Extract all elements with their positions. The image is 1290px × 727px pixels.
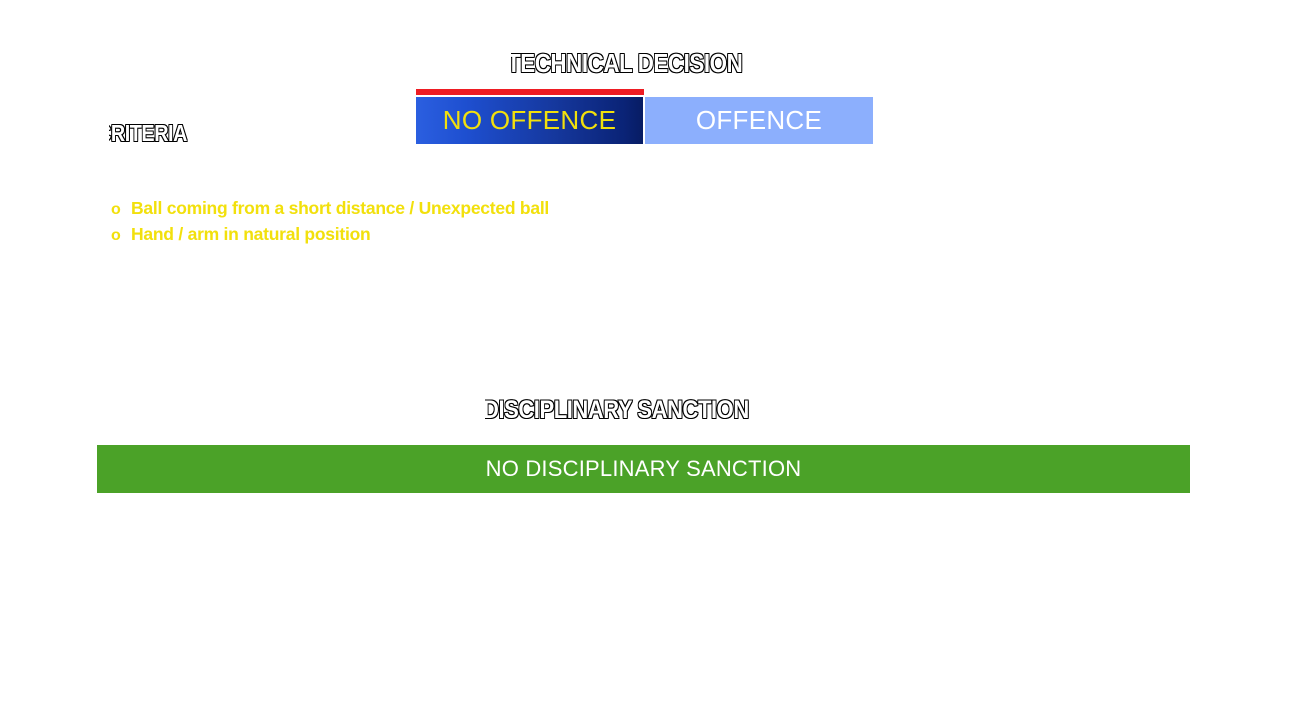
criteria-list: o Ball coming from a short distance / Un… bbox=[111, 196, 549, 248]
option-offence-label: OFFENCE bbox=[696, 105, 822, 136]
handball-decision-slide: { "slide": { "background_color": "#fffff… bbox=[0, 0, 1290, 727]
option-no-offence[interactable]: NO OFFENCE bbox=[416, 97, 643, 144]
technical-decision-heading: TECHNICAL DECISION bbox=[511, 50, 742, 76]
criteria-item-text: Hand / arm in natural position bbox=[131, 222, 370, 246]
no-disciplinary-sanction-label: NO DISCIPLINARY SANCTION bbox=[486, 456, 802, 482]
list-item: o Ball coming from a short distance / Un… bbox=[111, 196, 549, 222]
criteria-heading-wrapper: CRITERIA bbox=[109, 122, 191, 152]
criteria-heading: CRITERIA bbox=[109, 122, 187, 145]
disciplinary-sanction-heading: DISCIPLINARY SANCTION bbox=[485, 398, 749, 423]
bullet-circle-icon: o bbox=[111, 224, 131, 248]
no-disciplinary-sanction-bar[interactable]: NO DISCIPLINARY SANCTION bbox=[97, 445, 1190, 493]
disciplinary-sanction-heading-wrapper: DISCIPLINARY SANCTION bbox=[485, 398, 806, 430]
bullet-circle-icon: o bbox=[111, 198, 131, 222]
red-accent-line bbox=[416, 89, 644, 95]
option-offence[interactable]: OFFENCE bbox=[645, 97, 873, 144]
technical-decision-heading-wrapper: TECHNICAL DECISION bbox=[511, 50, 769, 82]
option-no-offence-label: NO OFFENCE bbox=[443, 105, 616, 136]
criteria-item-text: Ball coming from a short distance / Unex… bbox=[131, 196, 549, 220]
list-item: o Hand / arm in natural position bbox=[111, 222, 549, 248]
